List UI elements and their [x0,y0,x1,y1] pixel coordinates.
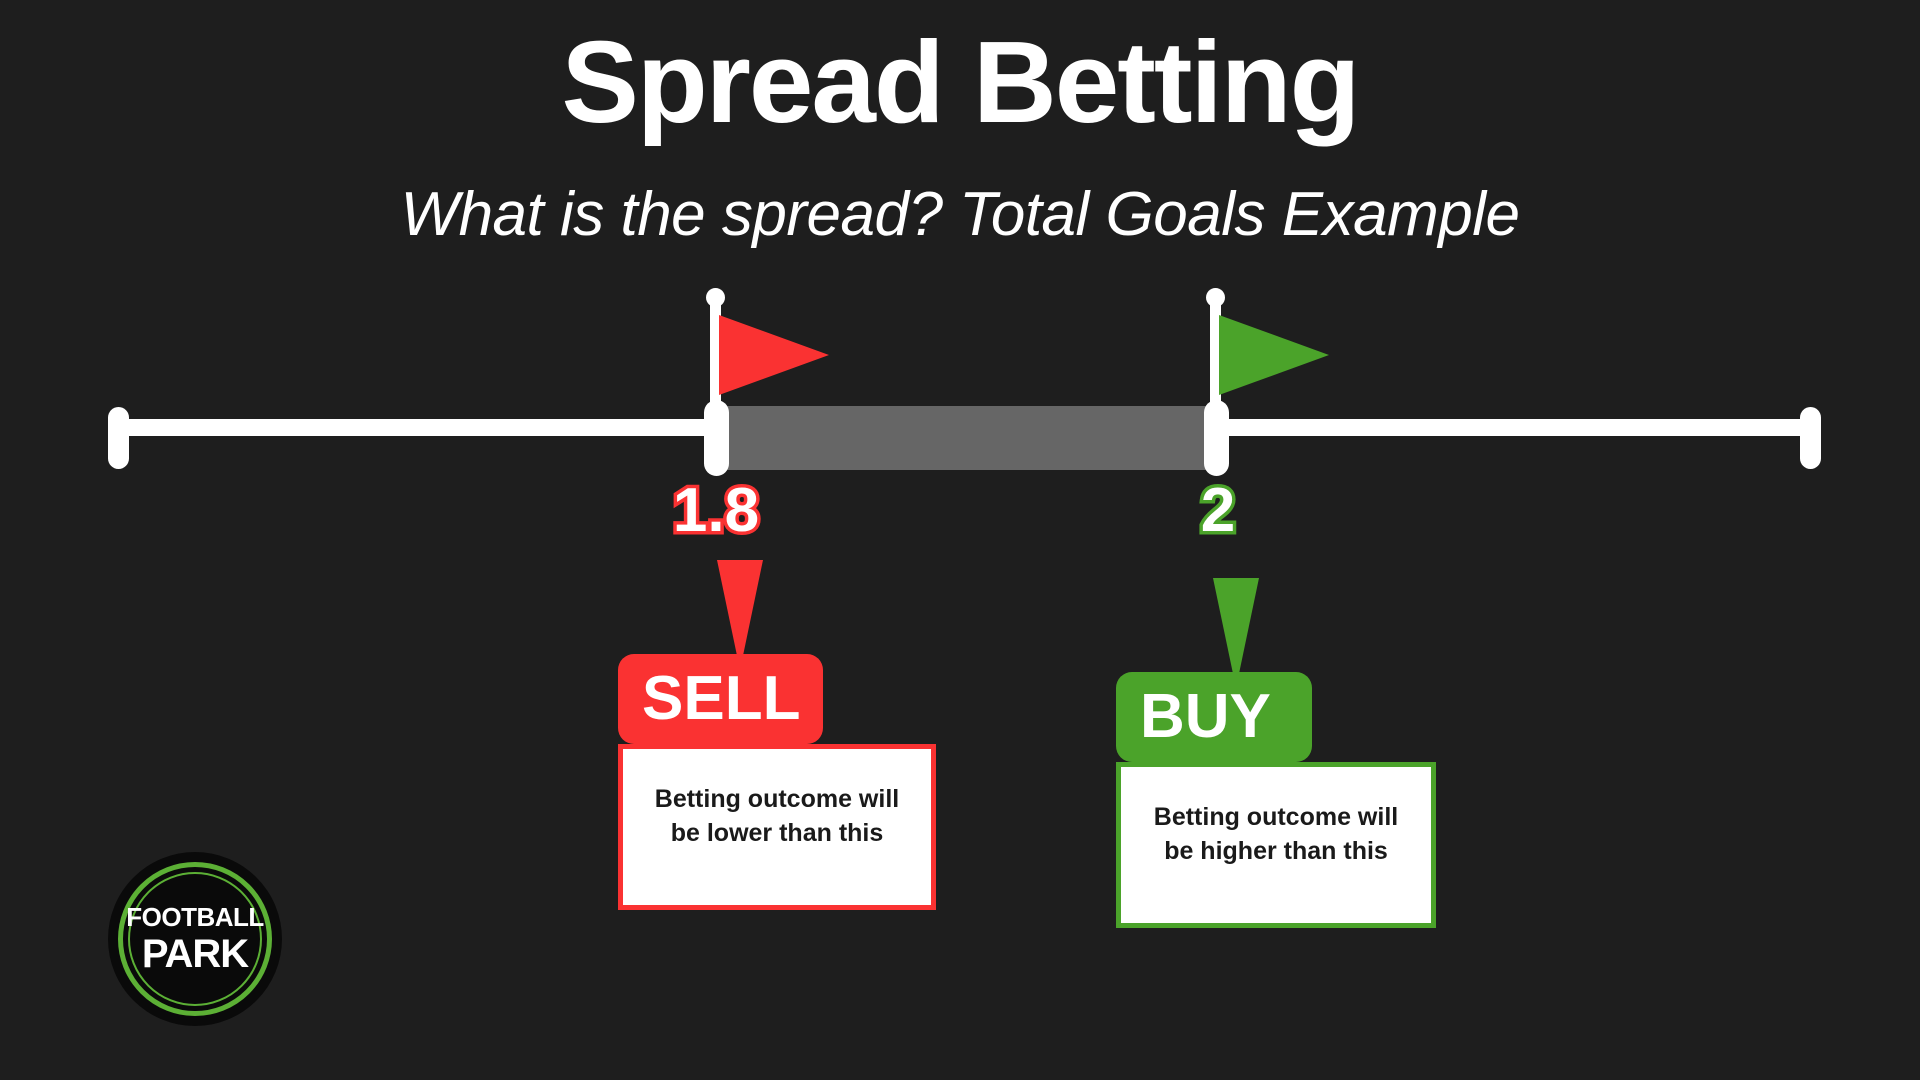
buy-callout-header: BUY [1116,672,1312,762]
axis-right-endpoint-tick [1800,407,1821,469]
spread-band [716,406,1216,470]
football-park-logo: FOOTBALL PARK [108,852,282,1026]
buy-callout-body: Betting outcome will be higher than this [1116,762,1436,928]
red-flag-icon [719,315,829,395]
buy-callout-body-line-1: Betting outcome will [1154,803,1398,831]
sell-callout-header: SELL [618,654,823,744]
logo-text-line-2: PARK [142,934,248,974]
sell-callout-body-line-1: Betting outcome will [655,785,899,813]
infographic-canvas: Spread Betting What is the spread? Total… [0,0,1920,1080]
sell-callout-body-line-2: be lower than this [671,819,884,847]
buy-value-label: 2 [1148,480,1288,542]
total-goals-scale [0,0,1920,1080]
axis-left-endpoint-tick [108,407,129,469]
green-flag-icon [1219,315,1329,395]
logo-text-line-1: FOOTBALL [126,904,264,930]
sell-callout-body: Betting outcome will be lower than this [618,744,936,910]
buy-callout-body-line-2: be higher than this [1164,837,1388,865]
sell-value-label: 1.8 [636,480,796,542]
